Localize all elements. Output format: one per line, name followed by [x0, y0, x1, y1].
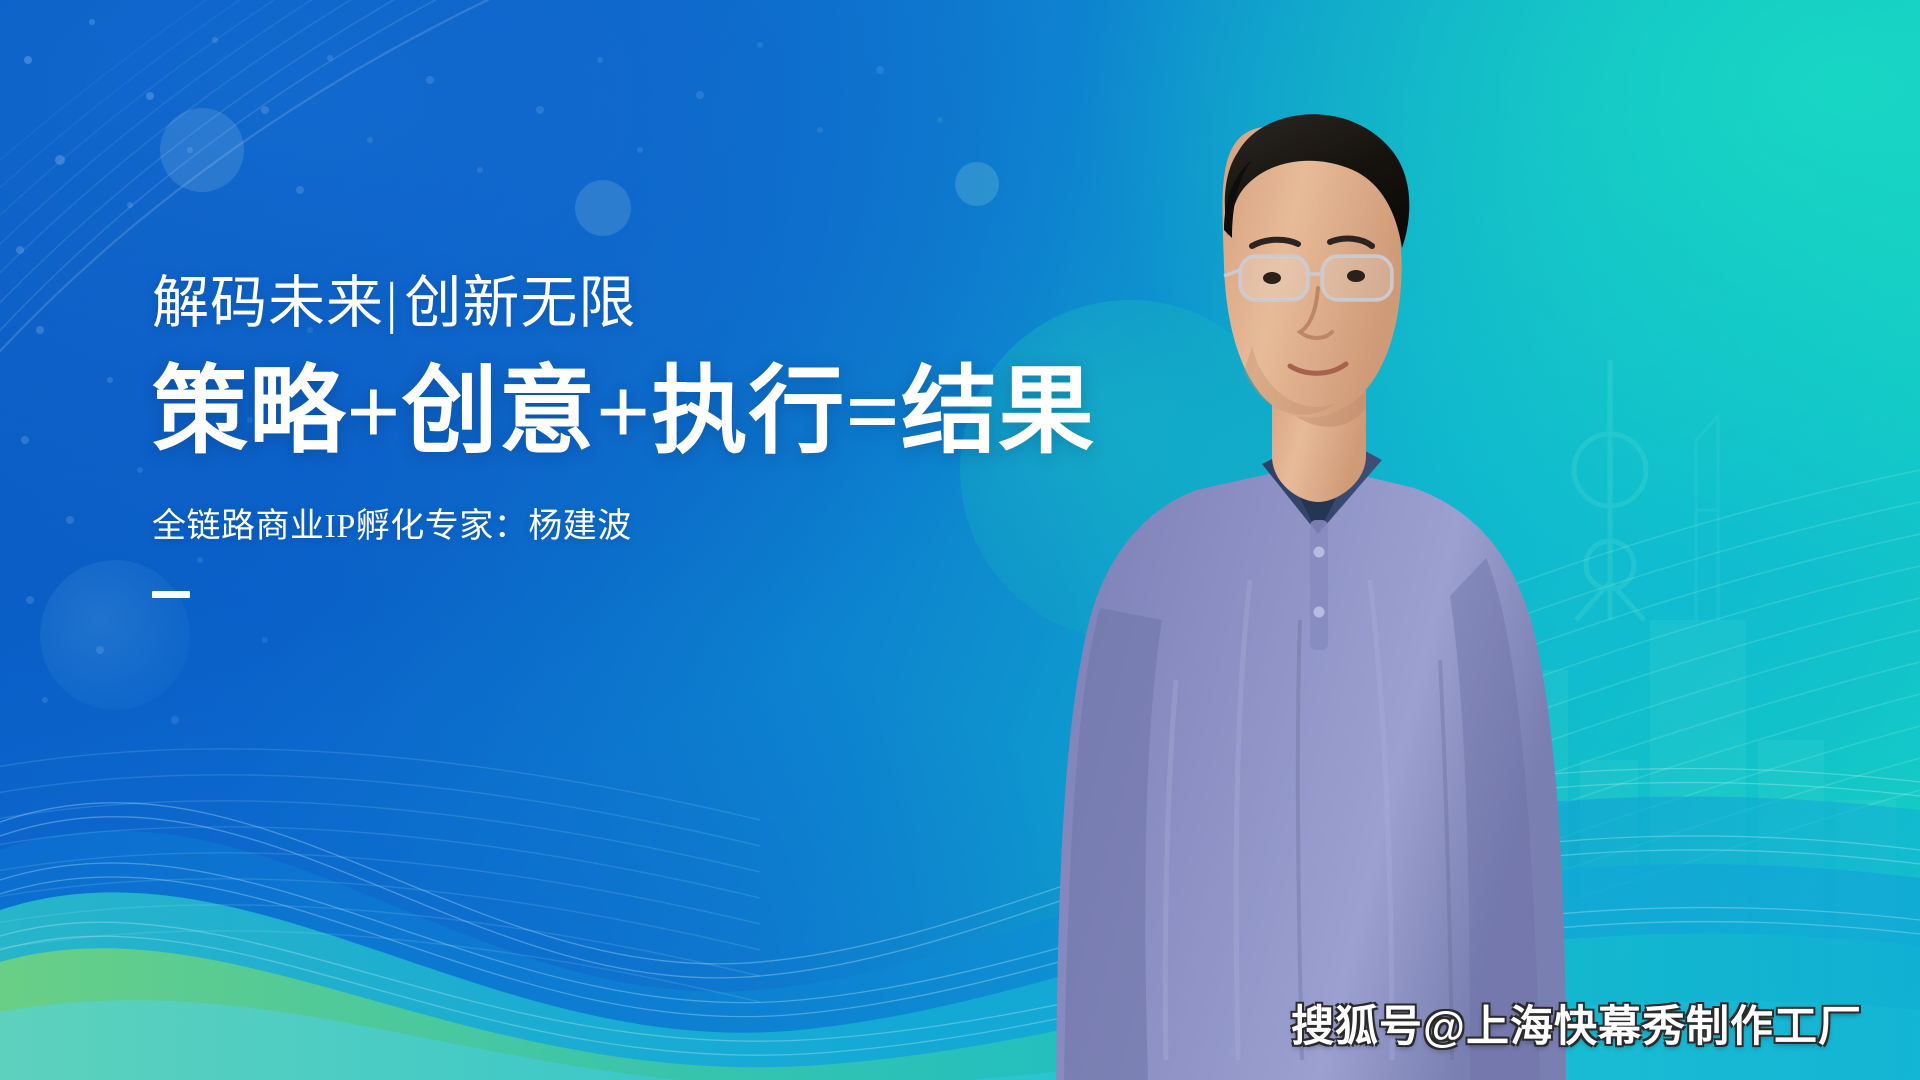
headline-group: 解码未来|创新无限 策略+创意+执行=结果 全链路商业IP孵化专家：杨建波 [152, 272, 1232, 598]
kicker-line: 解码未来|创新无限 [152, 272, 1232, 336]
accent-rule [152, 591, 190, 598]
kicker-left-text: 解码未来 [152, 272, 384, 335]
hatch-lines-decoration [0, 650, 760, 1080]
watermark-label: 搜狐号@上海快幕秀制作工厂 [1291, 992, 1862, 1054]
page-title: 策略+创意+执行=结果 [152, 362, 1232, 463]
poster-canvas: 解码未来|创新无限 策略+创意+执行=结果 全链路商业IP孵化专家：杨建波 搜狐… [0, 0, 1920, 1080]
kicker-separator: | [386, 272, 398, 336]
kicker-right-text: 创新无限 [404, 272, 636, 335]
speaker-byline: 全链路商业IP孵化专家：杨建波 [152, 507, 1232, 548]
